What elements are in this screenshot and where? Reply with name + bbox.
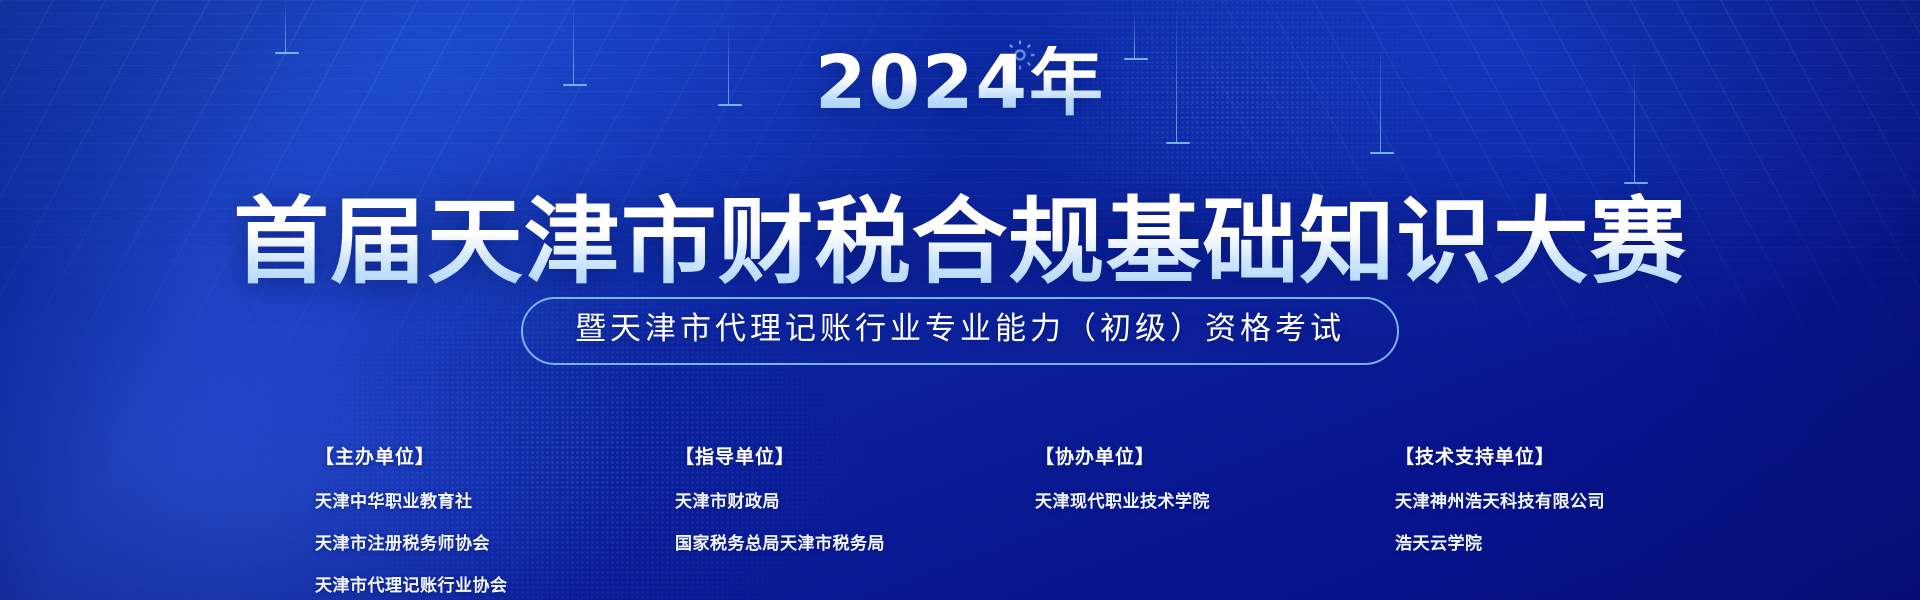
organizer-column-coorganizer: 【协办单位】 天津现代职业技术学院 <box>1035 442 1395 596</box>
organizer-item: 天津神州浩天科技有限公司 <box>1395 487 1755 512</box>
organizer-heading: 【技术支持单位】 <box>1395 442 1755 469</box>
organizer-item: 浩天云学院 <box>1395 529 1755 554</box>
organizer-column-host: 【主办单位】 天津中华职业教育社 天津市注册税务师协会 天津市代理记账行业协会 <box>315 442 675 596</box>
organizer-column-guidance: 【指导单位】 天津市财政局 国家税务总局天津市税务局 <box>675 442 1035 596</box>
organizer-heading: 【指导单位】 <box>675 442 1035 469</box>
organizer-item: 天津现代职业技术学院 <box>1035 487 1395 512</box>
organizer-item: 国家税务总局天津市税务局 <box>675 529 1035 554</box>
event-banner: 2024年 首届天津市财税合规基础知识大赛 暨天津市代理记账行业专业能力（初级）… <box>0 0 1920 600</box>
organizations-section: 【主办单位】 天津中华职业教育社 天津市注册税务师协会 天津市代理记账行业协会 … <box>0 442 1920 596</box>
page-title: 首届天津市财税合规基础知识大赛 <box>0 193 1920 293</box>
event-year: 2024年 <box>0 46 1920 120</box>
subtitle-pill: 暨天津市代理记账行业专业能力（初级）资格考试 <box>521 297 1399 365</box>
organizer-item: 天津中华职业教育社 <box>315 487 675 512</box>
organizer-heading: 【协办单位】 <box>1035 442 1395 469</box>
organizer-item: 天津市财政局 <box>675 487 1035 512</box>
subtitle-container: 暨天津市代理记账行业专业能力（初级）资格考试 <box>0 297 1920 365</box>
organizer-item: 天津市注册税务师协会 <box>315 529 675 554</box>
organizer-column-tech-support: 【技术支持单位】 天津神州浩天科技有限公司 浩天云学院 <box>1395 442 1755 596</box>
organizer-heading: 【主办单位】 <box>315 442 675 469</box>
organizer-item: 天津市代理记账行业协会 <box>315 571 675 596</box>
